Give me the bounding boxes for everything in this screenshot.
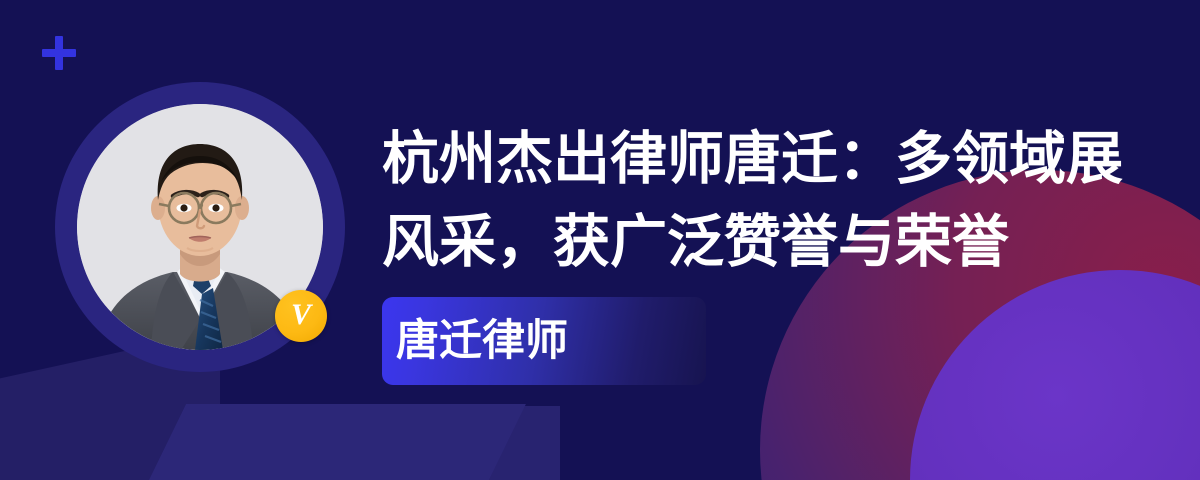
headline-container: 杭州杰出律师唐迁：多领域展风采，获广泛赞誉与荣誉 — [382, 118, 1172, 284]
lawyer-name-badge[interactable]: 唐迁律师 — [382, 297, 706, 385]
decor-blob-purple — [910, 270, 1200, 480]
verified-badge-icon: V — [275, 290, 327, 342]
article-hero-banner: V 杭州杰出律师唐迁：多领域展风采，获广泛赞誉与荣誉 唐迁律师 — [0, 0, 1200, 480]
page-title: 杭州杰出律师唐迁：多领域展风采，获广泛赞誉与荣誉 — [382, 118, 1172, 284]
plus-icon — [42, 36, 76, 70]
avatar[interactable]: V — [55, 82, 345, 372]
lawyer-name-label: 唐迁律师 — [396, 320, 568, 363]
verified-badge-glyph: V — [291, 300, 311, 330]
decor-polygon-triangle — [127, 404, 526, 480]
